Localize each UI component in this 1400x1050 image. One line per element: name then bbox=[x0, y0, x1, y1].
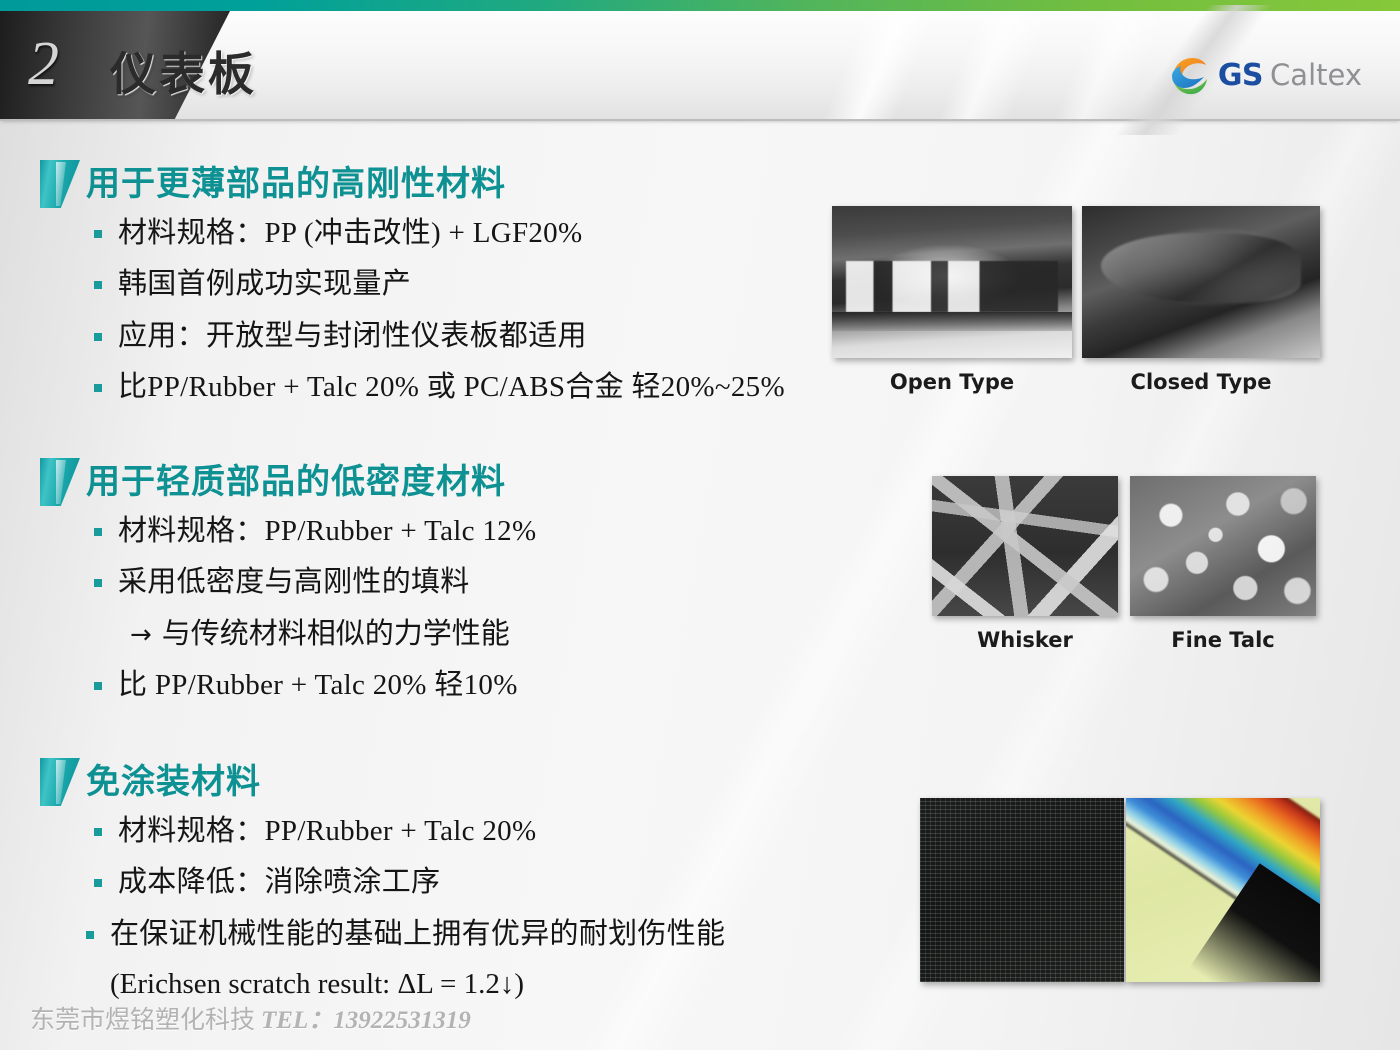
bullet-square-icon bbox=[94, 384, 102, 392]
figure-image bbox=[1126, 798, 1320, 982]
list-item-text: 材料规格：PP/Rubber + Talc 20% bbox=[118, 815, 536, 847]
figure-caption: Open Type bbox=[832, 370, 1072, 394]
gs-caltex-mark-icon bbox=[1166, 52, 1212, 98]
figure-image bbox=[932, 476, 1118, 616]
list-item-text: 应用：开放型与封闭性仪表板都适用 bbox=[118, 320, 587, 352]
logo-caltex-text: Caltex bbox=[1270, 58, 1362, 92]
section-flag-icon bbox=[40, 458, 80, 506]
figure-image bbox=[920, 798, 1124, 982]
figure-fine-talc: Fine Talc bbox=[1130, 476, 1316, 652]
section-title: 免涂装材料 bbox=[86, 754, 261, 803]
bullet-square-icon bbox=[94, 333, 102, 341]
bullet-list: 材料规格：PP/Rubber + Talc 20% 成本降低：消除喷涂工序 在保… bbox=[0, 814, 820, 1015]
list-item-text: 材料规格：PP/Rubber + Talc 12% bbox=[118, 515, 536, 547]
figure-caption: Closed Type bbox=[1082, 370, 1320, 394]
figure-caption: Whisker bbox=[932, 628, 1118, 652]
bullet-square-icon bbox=[94, 682, 102, 690]
section-header: 免涂装材料 bbox=[0, 758, 830, 806]
sub-note: →与传统材料相似的力学性能 bbox=[0, 617, 820, 652]
section-header: 用于更薄部品的高刚性材料 bbox=[0, 160, 830, 208]
list-item-continuation: (Erichsen scratch result: ΔL = 1.2↓) bbox=[0, 968, 820, 1001]
list-item-text: 比PP/Rubber + Talc 20% 或 PC/ABS合金 轻20%~25… bbox=[118, 371, 785, 403]
bullet-square-icon bbox=[94, 828, 102, 836]
bullet-square-icon bbox=[94, 579, 102, 587]
list-item: 材料规格：PP/Rubber + Talc 12% bbox=[0, 514, 820, 549]
figure-image bbox=[1082, 206, 1320, 358]
bullet-square-icon bbox=[94, 528, 102, 536]
figure-closed-type: Closed Type bbox=[1082, 206, 1320, 394]
sub-note-text: 与传统材料相似的力学性能 bbox=[162, 618, 510, 650]
list-item: 成本降低：消除喷涂工序 bbox=[0, 865, 820, 900]
list-item: 在保证机械性能的基础上拥有优异的耐划伤性能 bbox=[0, 917, 820, 952]
list-item-text: 采用低密度与高刚性的填料 bbox=[118, 566, 470, 598]
section-title: 用于轻质部品的低密度材料 bbox=[86, 454, 506, 503]
footer: 东莞市煜铭塑化科技TEL：13922531319 bbox=[30, 1000, 471, 1036]
section-flag-icon bbox=[40, 160, 80, 208]
section-number: 2 bbox=[28, 29, 59, 100]
section-flag-icon bbox=[40, 758, 80, 806]
bullet-square-icon bbox=[94, 230, 102, 238]
page-title: 仪表板 bbox=[110, 38, 257, 104]
figure-image bbox=[1130, 476, 1316, 616]
footer-company: 东莞市煜铭塑化科技 bbox=[30, 1007, 255, 1034]
section-title: 用于更薄部品的高刚性材料 bbox=[86, 156, 506, 205]
figure-whisker: Whisker bbox=[932, 476, 1118, 652]
figure-grain-surface bbox=[920, 798, 1124, 994]
bullet-list: 材料规格：PP (冲击改性) + LGF20% 韩国首例成功实现量产 应用：开放… bbox=[0, 216, 820, 422]
section-high-rigidity: 用于更薄部品的高刚性材料 材料规格：PP (冲击改性) + LGF20% 韩国首… bbox=[0, 160, 830, 208]
list-item-text: 成本降低：消除喷涂工序 bbox=[118, 866, 440, 898]
list-item-text: 材料规格：PP (冲击改性) + LGF20% bbox=[118, 217, 582, 249]
bullet-list: 材料规格：PP/Rubber + Talc 12% 采用低密度与高刚性的填料 →… bbox=[0, 514, 820, 720]
list-item: 材料规格：PP (冲击改性) + LGF20% bbox=[0, 216, 820, 251]
arrow-right-icon: → bbox=[130, 620, 152, 650]
gs-caltex-logo: GS Caltex bbox=[1166, 50, 1362, 100]
list-item: 采用低密度与高刚性的填料 bbox=[0, 565, 820, 600]
section-header: 用于轻质部品的低密度材料 bbox=[0, 458, 830, 506]
slide: 2 仪表板 bbox=[0, 0, 1400, 1050]
list-item-text: 韩国首例成功实现量产 bbox=[118, 268, 411, 300]
section-low-density: 用于轻质部品的低密度材料 材料规格：PP/Rubber + Talc 12% 采… bbox=[0, 458, 830, 506]
bullet-square-icon bbox=[94, 879, 102, 887]
figure-open-type: Open Type bbox=[832, 206, 1072, 394]
footer-tel: TEL：13922531319 bbox=[261, 1007, 471, 1034]
bullet-square-icon bbox=[94, 281, 102, 289]
section-paint-free: 免涂装材料 材料规格：PP/Rubber + Talc 20% 成本降低：消除喷… bbox=[0, 758, 830, 806]
figure-scratch-profile bbox=[1126, 798, 1320, 994]
list-item: 比 PP/Rubber + Talc 20% 轻10% bbox=[0, 668, 820, 703]
logo-gs-text: GS bbox=[1218, 58, 1263, 93]
list-item: 比PP/Rubber + Talc 20% 或 PC/ABS合金 轻20%~25… bbox=[0, 370, 820, 405]
bullet-square-icon bbox=[86, 931, 94, 939]
figure-caption: Fine Talc bbox=[1130, 628, 1316, 652]
list-item-text: 在保证机械性能的基础上拥有优异的耐划伤性能 bbox=[110, 918, 725, 950]
figure-image bbox=[832, 206, 1072, 358]
list-item-text: 比 PP/Rubber + Talc 20% 轻10% bbox=[118, 669, 518, 701]
list-item: 韩国首例成功实现量产 bbox=[0, 267, 820, 302]
list-item: 材料规格：PP/Rubber + Talc 20% bbox=[0, 814, 820, 849]
list-item: 应用：开放型与封闭性仪表板都适用 bbox=[0, 319, 820, 354]
